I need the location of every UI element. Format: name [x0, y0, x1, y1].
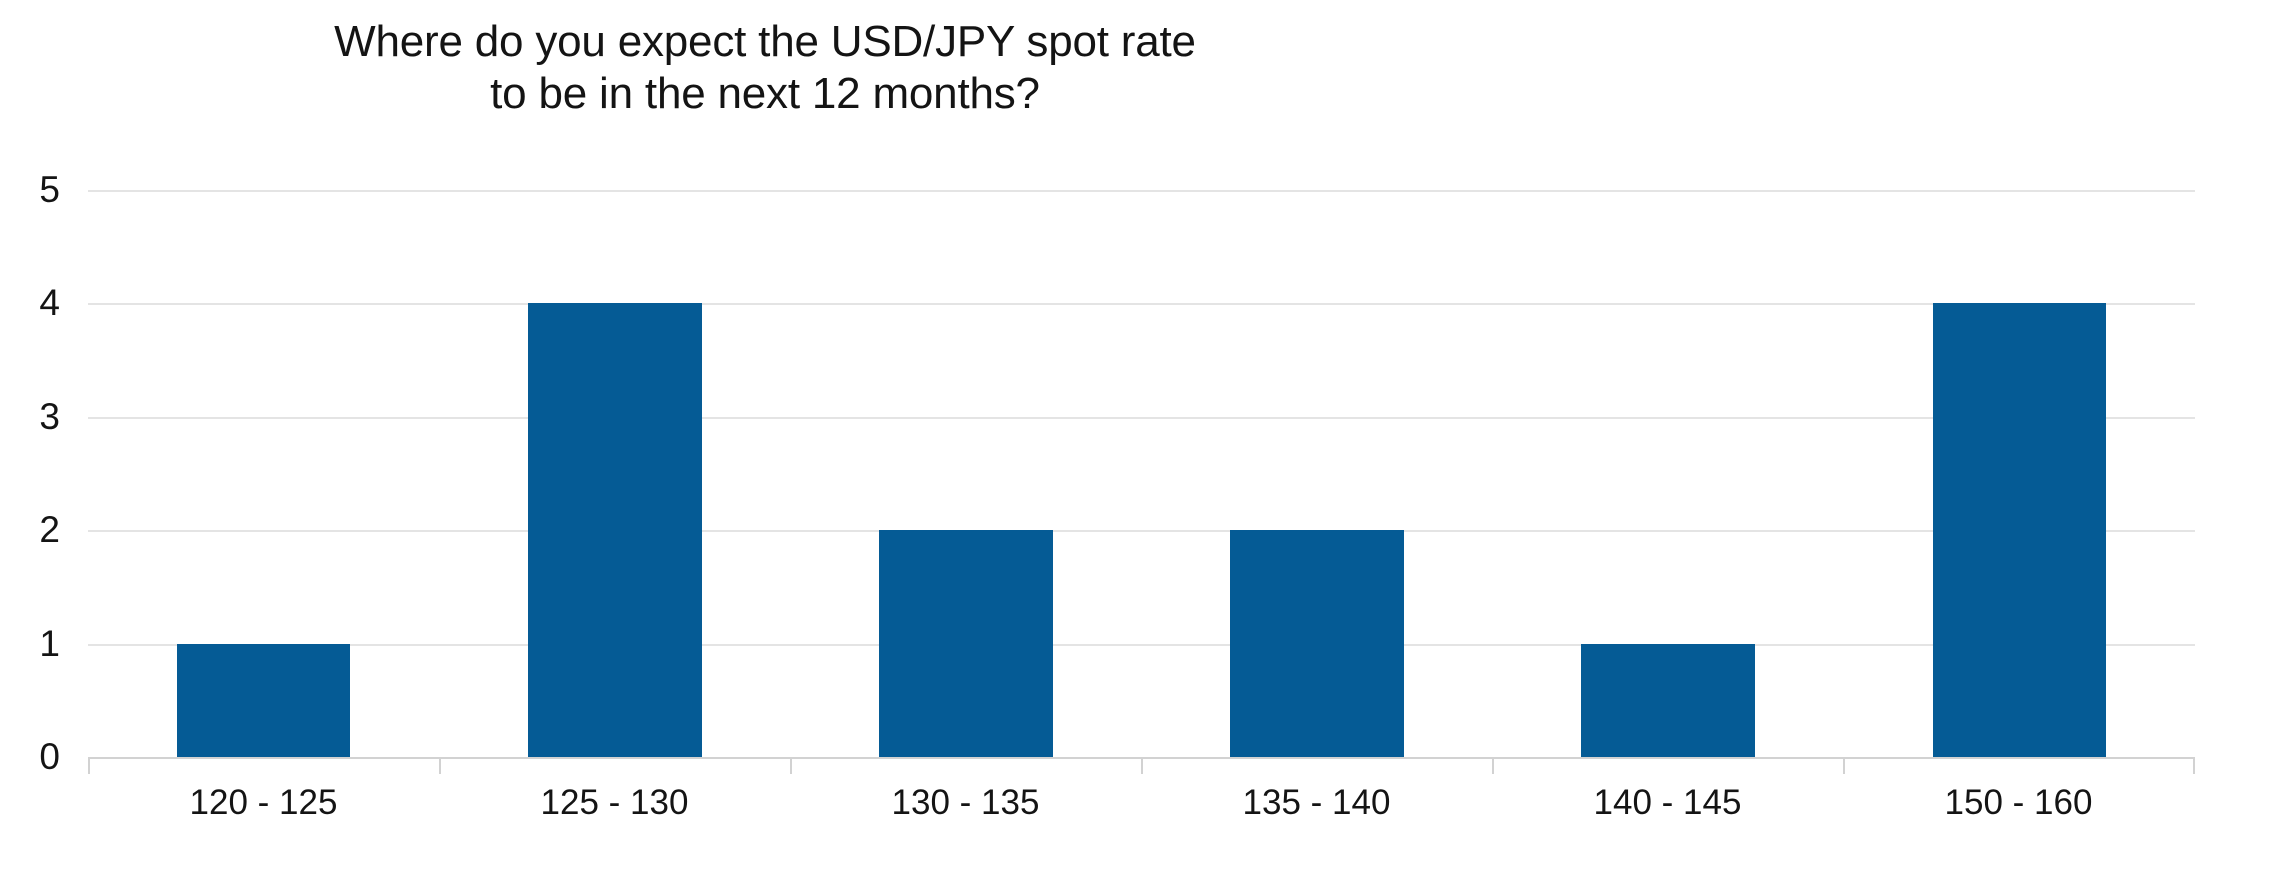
x-axis-category-label: 125 - 130: [439, 783, 790, 823]
bar[interactable]: [177, 644, 351, 757]
x-axis-tick: [2193, 757, 2195, 774]
gridline-1: [88, 644, 2195, 646]
bar[interactable]: [528, 303, 702, 757]
bar[interactable]: [1933, 303, 2107, 757]
y-axis-tick-label: 3: [0, 398, 60, 435]
x-axis-category-label: 150 - 160: [1843, 783, 2194, 823]
x-axis-tick: [88, 757, 90, 774]
x-axis-category-label: 120 - 125: [88, 783, 439, 823]
bar[interactable]: [1581, 644, 1755, 757]
gridline-5: [88, 190, 2195, 192]
gridline-4: [88, 303, 2195, 305]
x-axis-tick: [439, 757, 441, 774]
x-axis-tick: [1492, 757, 1494, 774]
chart-canvas: Where do you expect the USD/JPY spot rat…: [0, 0, 2270, 879]
y-axis-tick-label: 2: [0, 511, 60, 548]
y-axis-tick-label: 5: [0, 171, 60, 208]
x-axis-category-label: 140 - 145: [1492, 783, 1843, 823]
x-axis-tick: [1843, 757, 1845, 774]
plot-area: [88, 190, 2195, 757]
x-axis-category-label: 135 - 140: [1141, 783, 1492, 823]
gridline-2: [88, 530, 2195, 532]
y-axis-tick-label: 4: [0, 284, 60, 321]
bar[interactable]: [1230, 530, 1404, 757]
y-axis-tick-label: 1: [0, 625, 60, 662]
x-axis-tick: [1141, 757, 1143, 774]
x-axis-category-label: 130 - 135: [790, 783, 1141, 823]
gridline-3: [88, 417, 2195, 419]
bar[interactable]: [879, 530, 1053, 757]
x-axis-tick: [790, 757, 792, 774]
chart-title: Where do you expect the USD/JPY spot rat…: [0, 16, 1530, 120]
y-axis-tick-label: 0: [0, 738, 60, 775]
